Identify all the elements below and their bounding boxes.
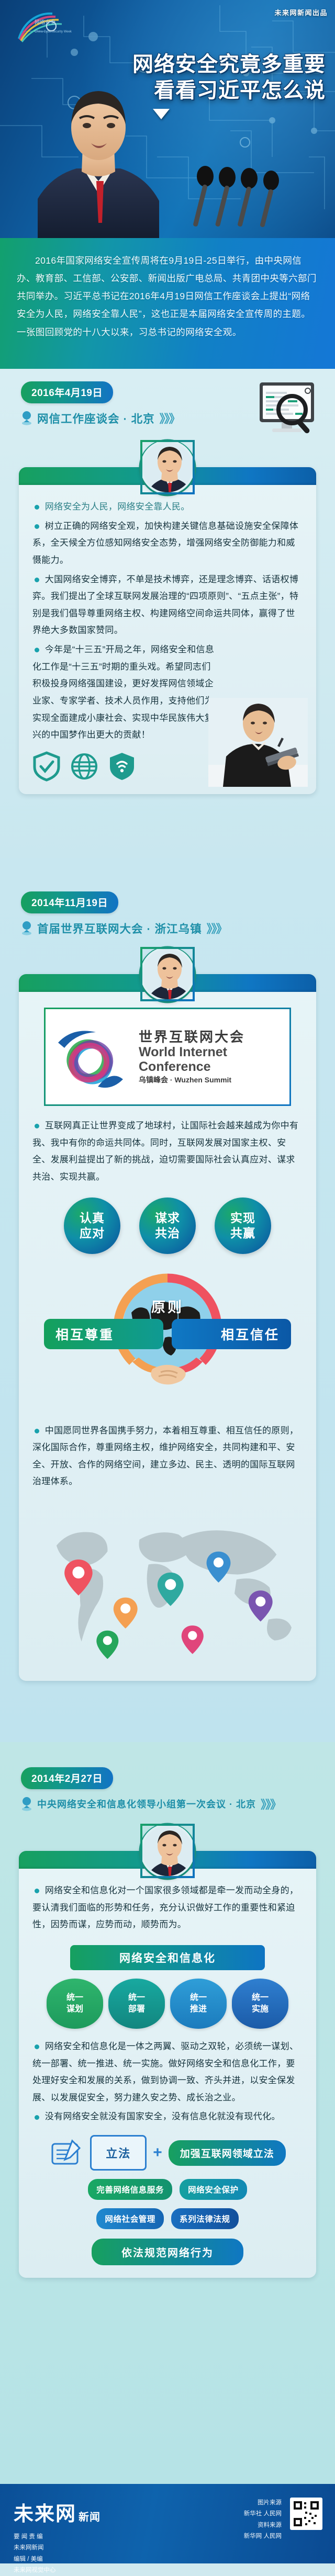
qr-code-icon [292,2499,321,2528]
venue-chevrons: 》》》 [207,920,227,936]
flow-leaf-row-2: 网络社会管理 系列法律法规 [32,2208,303,2229]
wic-title-en1: World Internet [139,1045,245,1059]
avatar [140,1824,195,1878]
monitor-search-icon [252,380,321,444]
circle-line1: 实现 [230,1211,255,1225]
shield-wifi-icon [108,751,136,782]
publisher-label: 未来网新闻出品 [274,7,328,17]
quote-card-2016: 网络安全为人民，网络安全靠人民。 树立正确的网络安全观，加快构建关键信息基础设施… [19,467,316,794]
location-pin-icon [21,921,32,935]
quad-line2: 实施 [252,2004,269,2015]
leaf-item: 网络社会管理 [96,2208,164,2229]
circle-line2: 共赢 [230,1226,255,1240]
circle-item: 谋求 共治 [139,1197,196,1254]
wic-ring-logo-icon [53,1018,131,1096]
venue-chevrons: 》》》 [160,410,180,426]
quad-line1: 统一 [66,1992,83,2004]
info-banner: 网络安全和信息化 [70,1945,265,1970]
location-pin-icon [21,1797,32,1811]
avatar [140,440,195,494]
circle-item: 实现 共赢 [215,1197,271,1254]
bullet-item: 互联网真正让世界变成了地球村，让国际社会越来越成为你中有我、我中有你的命运共同体… [32,1117,303,1186]
circle-item: 认真 应对 [64,1197,120,1254]
quad-item: 统一 推进 [170,1979,227,2029]
quad-line2: 谋划 [66,2004,83,2015]
wic-subtitle: 乌镇峰会 · Wuzhen Summit [139,1076,245,1084]
quad-line1: 统一 [128,1992,145,2004]
intro-paragraph: 2016年国家网络安全宣传周将在9月19日-25日举行，由中央网信办、教育部、工… [17,252,318,341]
leaf-item: 网络安全保护 [180,2179,247,2200]
principle-pill-left: 相互尊重 [44,1319,163,1349]
plus-icon: + [153,2144,162,2162]
bullet-list-2: 中国愿同世界各国携手努力，本着相互尊重、相互信任的原则，深化国际合作，尊重网络主… [32,1422,303,1491]
section-2016: 2016年4月19日 网信工作座谈会 · 北京 》》》 [0,369,335,858]
microphones-icon [183,165,304,238]
quad-line1: 统一 [252,1992,269,2004]
flow-leaf-row: 完善网络信息服务 网络安全保护 [32,2179,303,2200]
section-2014-wic: 2014年11月19日 首届世界互联网大会 · 浙江乌镇 》》》 [0,858,335,1742]
footer-left-meta: 要 闻 责 编 未来网新闻 编辑 / 美编 未来网视觉中心 [14,2532,100,2576]
footer-brand-main: 未来网 [14,2503,76,2525]
circle-line1: 认真 [80,1211,105,1225]
down-caret-icon [153,109,170,119]
quad-item: 统一 部署 [108,1979,165,2029]
cybersecurity-week-logo: 网络安全 China Cybersecurity Week [14,8,76,45]
footer-brand: 未来网新闻 [14,2498,100,2526]
location-pin-icon [21,411,32,425]
bullet-list-2: 网络安全和信息化是一体之两翼、驱动之双轮，必须统一谋划、统一部署、统一推进、统一… [32,2038,303,2126]
bullet-item: 中国愿同世界各国携手努力，本着相互尊重、相互信任的原则，深化国际合作，尊重网络主… [32,1422,303,1491]
hero-title: 网络安全究竟多重要 看看习近平怎么说 [106,51,326,104]
venue-label: 中央网络安全和信息化领导小组第一次会议 · 北京 [37,1797,256,1811]
principle-pill-right: 相互信任 [172,1319,291,1349]
hero-title-line1: 网络安全究竟多重要 [106,51,326,77]
bullet-item: 网络安全和信息化是一体之两翼、驱动之双轮，必须统一谋划、统一部署、统一推进、统一… [32,2038,303,2107]
footer-right-meta: 图片来源 新华社 人民网 资料来源 新华网 人民网 [244,2498,282,2542]
svg-text:China Cybersecurity Week: China Cybersecurity Week [35,30,72,33]
bullet-item: 网络安全为人民，网络安全靠人民。 [32,499,303,516]
bullet-item: 树立正确的网络安全观，加快构建关键信息基础设施安全保障体系，全天候全方位感知网络… [32,518,303,569]
hero-banner: 网络安全 China Cybersecurity Week 未来网新闻出品 网络… [0,0,335,238]
meeting-photo [208,698,308,787]
section-venue: 中央网络安全和信息化领导小组第一次会议 · 北京 》》》 [21,1795,335,1812]
quad-line2: 推进 [190,2004,207,2015]
section-venue: 首届世界互联网大会 · 浙江乌镇 》》》 [21,920,335,936]
flow-final-pill: 依法规范网络行为 [92,2239,243,2265]
quad-line2: 部署 [128,2004,145,2015]
leaf-item: 系列法律法规 [171,2208,239,2229]
intro-block: 2016年国家网络安全宣传周将在9月19日-25日举行，由中央网信办、教育部、工… [0,238,335,369]
bullet-item: 没有网络安全就没有国家安全，没有信息化就没有现代化。 [32,2108,303,2126]
venue-chevrons: 》》》 [261,1795,281,1812]
circle-line2: 应对 [80,1226,105,1240]
qr-code[interactable] [290,2498,322,2530]
world-map-block [32,1496,303,1668]
ring-center-label: 原则 [151,1296,184,1316]
footer-brand-suffix: 新闻 [79,2512,100,2523]
avatar [140,947,195,1001]
flow-top-row: 立法 + 加强互联网领域立法 [32,2135,303,2171]
bullet-list: 网络安全和信息化对一个国家很多领域都是牵一发而动全身的，要认清我们面临的形势和任… [32,1882,303,1934]
legislation-flow: 立法 + 加强互联网领域立法 完善网络信息服务 网络安全保护 网络社会管理 系列… [32,2135,303,2265]
flow-box-legislation: 立法 [90,2135,147,2171]
section-date-badge: 2014年11月19日 [21,891,118,913]
footer-right-block: 图片来源 新华社 人民网 资料来源 新华网 人民网 [244,2498,322,2563]
world-map-icon [32,1496,303,1668]
principle-ring-block: 原则 相互尊重 相互信任 [32,1257,303,1414]
hero-title-line2: 看看习近平怎么说 [106,77,326,104]
quad-item: 统一 实施 [232,1979,288,2029]
quad-item: 统一 谋划 [47,1979,103,2029]
quote-card-wic: 世界互联网大会 World Internet Conference 乌镇峰会 ·… [19,974,316,1681]
venue-label: 首届世界互联网大会 · 浙江乌镇 [37,920,202,936]
bullet-item: 大国网络安全博弈，不单是技术博弈，还是理念博弈、话语权博弈。我们提出了全球互联网… [32,571,303,640]
shield-check-icon [32,751,61,782]
quote-card-leading-group: 网络安全和信息化对一个国家很多领域都是牵一发而动全身的，要认清我们面临的形势和任… [19,1851,316,2278]
flow-head-pill: 加强互联网领域立法 [169,2140,286,2166]
wic-text-block: 世界互联网大会 World Internet Conference 乌镇峰会 ·… [139,1030,245,1084]
bullet-list: 互联网真正让世界变成了地球村，让国际社会越来越成为你中有我、我中有你的命运共同体… [32,1117,303,1186]
circle-line2: 共治 [155,1226,180,1240]
circle-line1: 谋求 [155,1211,180,1225]
unified-quad: 统一 谋划 统一 部署 统一 推进 统一 实施 [32,1979,303,2029]
bullet-item: 网络安全和信息化对一个国家很多领域都是牵一发而动全身的，要认清我们面临的形势和任… [32,1882,303,1934]
section-date-badge: 2014年2月27日 [21,1767,113,1789]
wic-title-cn: 世界互联网大会 [139,1030,245,1045]
principle-circles: 认真 应对 谋求 共治 实现 共赢 [32,1197,303,1254]
leaf-item: 完善网络信息服务 [88,2179,172,2200]
pen-writing-icon [49,2136,84,2170]
globe-icon [70,751,98,782]
footer-brand-block: 未来网新闻 要 闻 责 编 未来网新闻 编辑 / 美编 未来网视觉中心 [14,2498,100,2563]
page-footer: 未来网新闻 要 闻 责 编 未来网新闻 编辑 / 美编 未来网视觉中心 图片来源… [0,2484,335,2563]
venue-label: 网信工作座谈会 · 北京 [37,410,155,426]
quad-line1: 统一 [190,1992,207,2004]
section-date-badge: 2016年4月19日 [21,381,113,403]
section-2014-leading-group: 2014年2月27日 中央网络安全和信息化领导小组第一次会议 · 北京 》》》 [0,1742,335,2484]
wic-title-en2: Conference [139,1059,245,1074]
wic-logo-card: 世界互联网大会 World Internet Conference 乌镇峰会 ·… [44,1008,291,1106]
svg-text:网络安全: 网络安全 [35,19,55,26]
